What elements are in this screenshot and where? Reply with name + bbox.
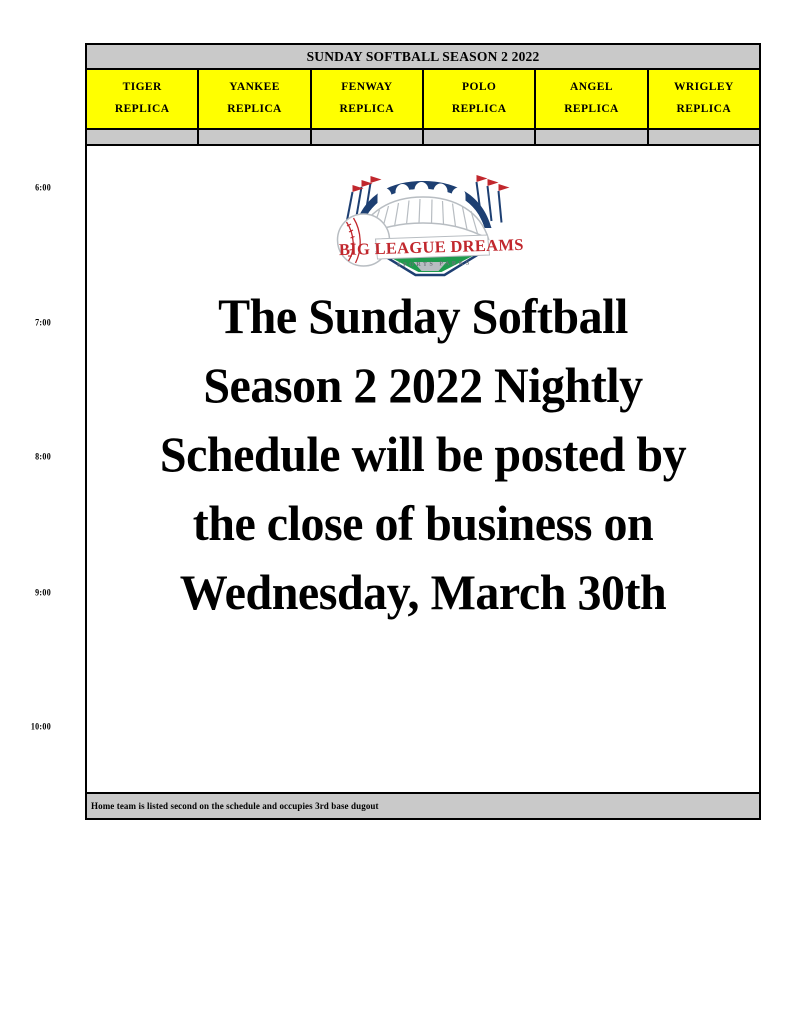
schedule-body-row: BIG LEAGUE DREAMS SPORTS PARKS The Sunda… xyxy=(86,145,760,793)
footer-row: Home team is listed second on the schedu… xyxy=(86,793,760,819)
spacer-row xyxy=(86,129,760,145)
field-name: FENWAY xyxy=(312,77,422,99)
field-name: YANKEE xyxy=(199,77,309,99)
spacer-cell-2 xyxy=(198,129,310,145)
spacer-cell-1 xyxy=(86,129,198,145)
time-label-8: 8:00 xyxy=(35,451,51,461)
field-column-fenway[interactable]: FENWAY REPLICA xyxy=(311,69,423,129)
notice-message: The Sunday Softball Season 2 2022 Nightl… xyxy=(100,282,745,627)
field-subname: REPLICA xyxy=(312,99,422,121)
notice-line-4: the close of business on xyxy=(106,489,740,558)
field-name: ANGEL xyxy=(536,77,646,99)
field-subname: REPLICA xyxy=(424,99,534,121)
time-column: 6:00 7:00 8:00 9:00 10:00 xyxy=(0,160,84,805)
field-header-row: TIGER REPLICA YANKEE REPLICA FENWAY REPL… xyxy=(86,69,760,129)
field-subname: REPLICA xyxy=(87,99,197,121)
field-subname: REPLICA xyxy=(649,99,759,121)
time-label-6: 6:00 xyxy=(35,182,51,192)
spacer-cell-6 xyxy=(648,129,760,145)
field-column-yankee[interactable]: YANKEE REPLICA xyxy=(198,69,310,129)
field-name: WRIGLEY xyxy=(649,77,759,99)
notice-line-5: Wednesday, March 30th xyxy=(106,558,740,627)
table-title-row: SUNDAY SOFTBALL SEASON 2 2022 xyxy=(86,44,760,69)
notice-line-2: Season 2 2022 Nightly xyxy=(106,351,740,420)
field-column-angel[interactable]: ANGEL REPLICA xyxy=(535,69,647,129)
field-subname: REPLICA xyxy=(199,99,309,121)
schedule-body: BIG LEAGUE DREAMS SPORTS PARKS The Sunda… xyxy=(86,145,760,793)
field-name: TIGER xyxy=(87,77,197,99)
big-league-dreams-logo: BIG LEAGUE DREAMS SPORTS PARKS xyxy=(316,164,531,279)
field-name: POLO xyxy=(424,77,534,99)
spacer-cell-4 xyxy=(423,129,535,145)
notice-line-1: The Sunday Softball xyxy=(106,282,740,351)
time-label-9: 9:00 xyxy=(35,587,51,597)
field-subname: REPLICA xyxy=(536,99,646,121)
time-label-7: 7:00 xyxy=(35,317,51,327)
logo-svg: BIG LEAGUE DREAMS SPORTS PARKS xyxy=(316,164,531,279)
schedule-table: SUNDAY SOFTBALL SEASON 2 2022 TIGER REPL… xyxy=(85,43,761,820)
time-label-10: 10:00 xyxy=(31,721,51,731)
field-column-wrigley[interactable]: WRIGLEY REPLICA xyxy=(648,69,760,129)
notice-line-3: Schedule will be posted by xyxy=(106,420,740,489)
field-column-polo[interactable]: POLO REPLICA xyxy=(423,69,535,129)
schedule-title: SUNDAY SOFTBALL SEASON 2 2022 xyxy=(86,44,760,69)
spacer-cell-5 xyxy=(535,129,647,145)
page-canvas: 6:00 7:00 8:00 9:00 10:00 SUNDAY SOFTBAL… xyxy=(0,0,791,1024)
field-column-tiger[interactable]: TIGER REPLICA xyxy=(86,69,198,129)
spacer-cell-3 xyxy=(311,129,423,145)
home-team-note: Home team is listed second on the schedu… xyxy=(86,793,760,819)
